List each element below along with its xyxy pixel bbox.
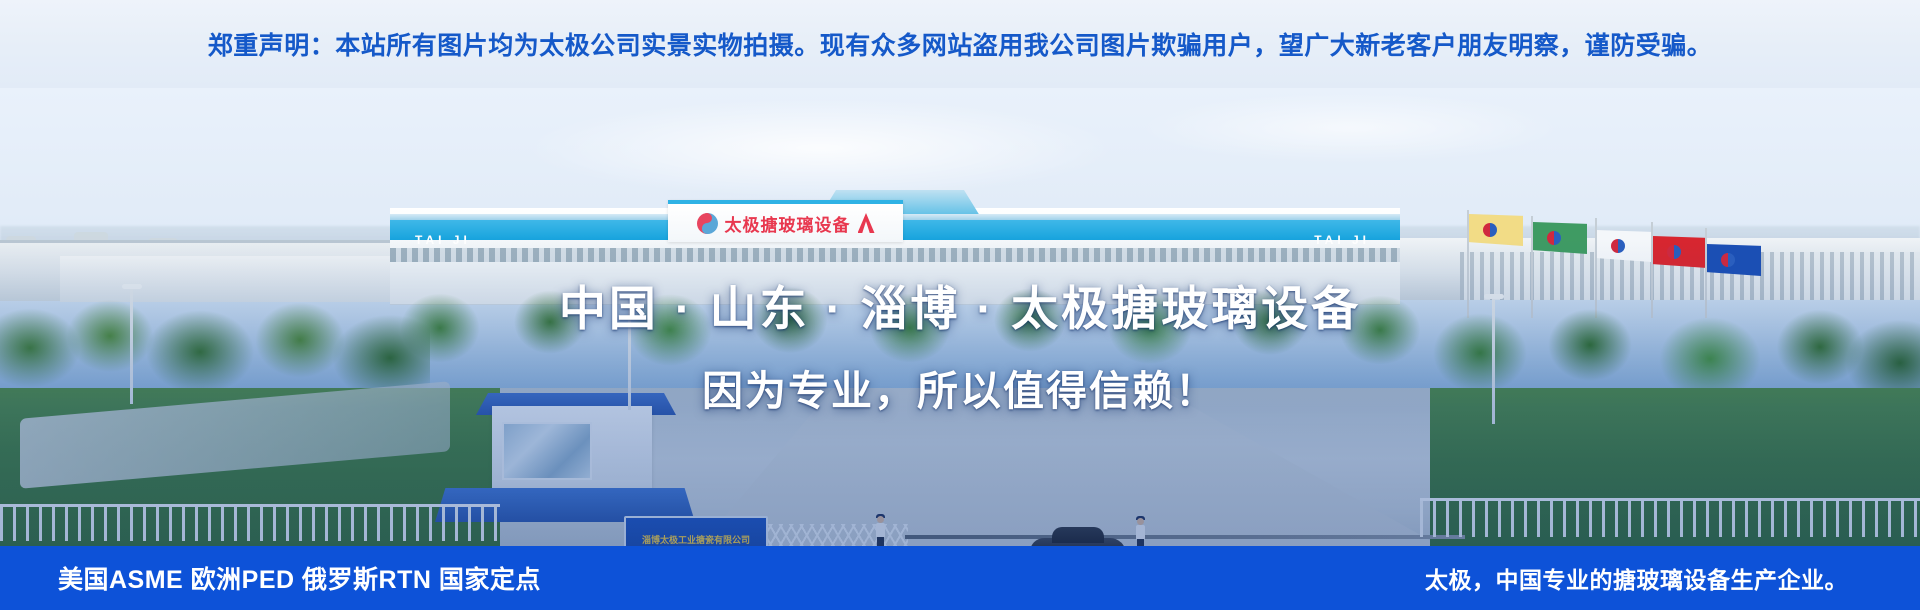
footer-bar: 美国ASME 欧洲PED 俄罗斯RTN 国家定点 太极，中国专业的搪玻璃设备生产… — [0, 546, 1920, 610]
gate-company-sign: 淄博太极工业搪瓷有限公司 Zibo Taiji Industrial Ename… — [624, 516, 768, 546]
company-sign-text: 太极搪玻璃设备 — [725, 211, 851, 236]
top-notice-bar: 郑重声明：本站所有图片均为太极公司实景实物拍摄。现有众多网站盗用我公司图片欺骗用… — [0, 0, 1920, 88]
flag-green — [1533, 222, 1587, 254]
company-facade-sign: 太极搪玻璃设备 — [668, 200, 903, 242]
page-root: 郑重声明：本站所有图片均为太极公司实景实物拍摄。现有众多网站盗用我公司图片欺骗用… — [0, 0, 1920, 610]
security-guard-left — [875, 516, 885, 546]
lamp-post-left — [130, 284, 133, 404]
gate-sign-chinese: 淄博太极工业搪瓷有限公司 — [642, 533, 750, 546]
flag-red — [1653, 236, 1707, 268]
flag-blue — [1707, 244, 1761, 276]
fence-right — [1420, 498, 1920, 537]
hero-banner[interactable]: TAI JI TAI JI 太极搪玻璃设备 — [0, 88, 1920, 546]
fence-left — [0, 504, 500, 541]
footer-slogan: 太极，中国专业的搪玻璃设备生产企业。 — [1425, 561, 1848, 595]
notice-text: 郑重声明：本站所有图片均为太极公司实景实物拍摄。现有众多网站盗用我公司图片欺骗用… — [208, 26, 1713, 62]
gatehouse-window — [502, 422, 592, 480]
flag-white — [1597, 230, 1651, 262]
black-car — [1030, 538, 1126, 546]
flag-yellow — [1469, 214, 1523, 246]
taiji-yinyang-icon — [697, 213, 718, 234]
lamp-post-center — [628, 302, 631, 410]
security-guard-right — [1135, 518, 1145, 546]
footer-certifications: 美国ASME 欧洲PED 俄罗斯RTN 国家定点 — [58, 560, 541, 596]
retractable-gate — [768, 524, 908, 546]
lamp-post-right — [1492, 294, 1495, 424]
taiji-arrow-mark-icon — [858, 213, 875, 233]
factory-window-row — [390, 248, 1400, 262]
building-label-left: TAI JI — [415, 233, 471, 247]
gate-barrier-arm — [905, 535, 1465, 539]
building-label-right: TAI JI — [1314, 233, 1370, 247]
